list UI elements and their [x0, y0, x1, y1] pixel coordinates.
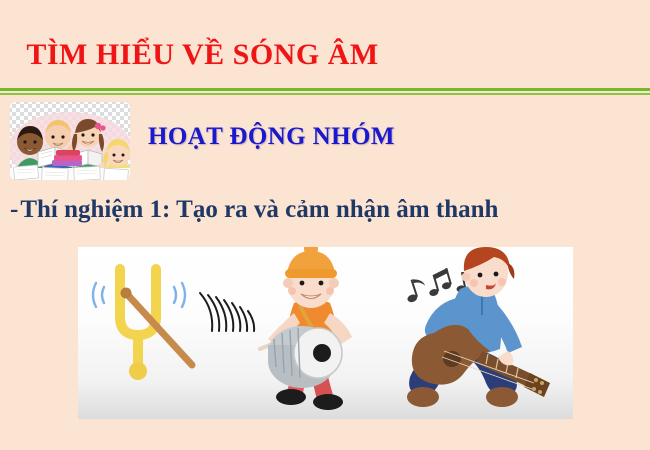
section-divider [0, 88, 650, 96]
section-heading: HOẠT ĐỘNG NHÓM [148, 123, 395, 151]
boy-playing-guitar-icon [402, 247, 550, 407]
experiment-line: -Thí nghiệm 1: Tạo ra và cảm nhận âm tha… [10, 196, 498, 224]
slide-canvas: TÌM HIỂU VỀ SÓNG ÂM [0, 0, 650, 450]
tuning-fork-icon [93, 269, 192, 380]
page-title: TÌM HIỂU VỀ SÓNG ÂM [0, 38, 650, 72]
boy-playing-drum-icon [200, 247, 352, 410]
group-of-children-studying-icon [8, 100, 132, 182]
bullet-dash: - [10, 196, 20, 223]
divider-band-thin [0, 93, 650, 95]
experiment-label: Thí nghiệm 1: Tạo ra và cảm nhận âm than… [20, 196, 498, 223]
sound-experiment-illustrations [78, 247, 573, 419]
